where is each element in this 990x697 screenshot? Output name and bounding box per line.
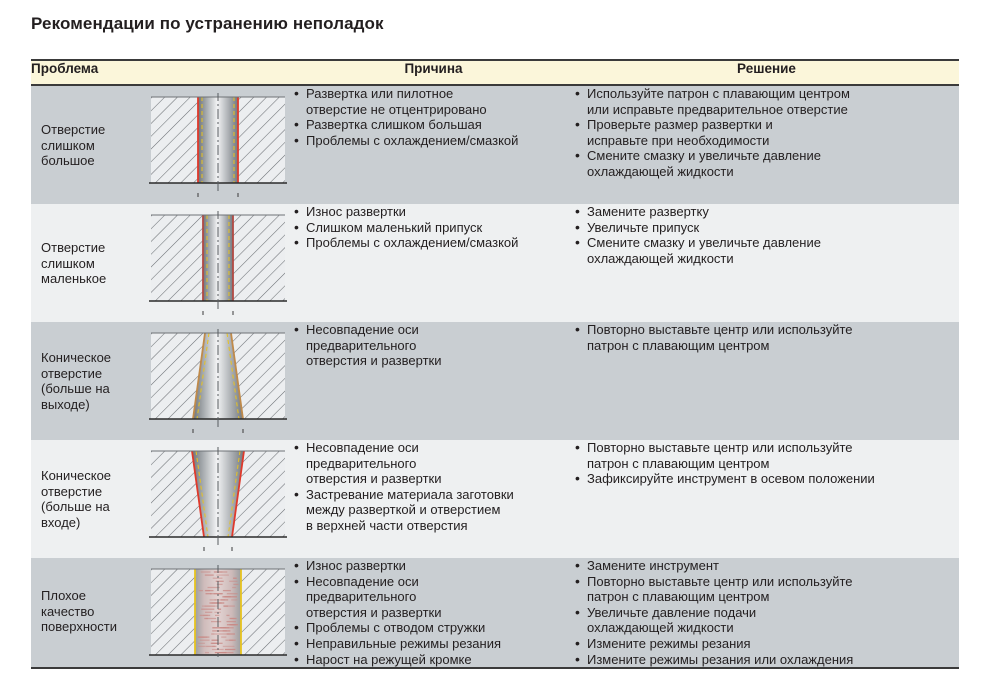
cell-cause: Развертка или пилотное отверстие не отце…	[293, 85, 574, 204]
solution-item: Измените режимы резания или охлаждения	[574, 652, 959, 668]
problem-figure: dnom	[143, 93, 293, 197]
cause-item: Нарост на режущей кромке	[293, 652, 574, 668]
cause-item: Износ развертки	[293, 204, 574, 220]
troubleshooting-table-wrapper: Проблема Причина Решение Отверстие слишк…	[31, 59, 959, 669]
solution-item: Используйте патрон с плавающим центром и…	[574, 86, 959, 117]
cause-list: Несовпадение оси предварительного отверс…	[293, 440, 574, 534]
cause-item: Слишком маленький припуск	[293, 220, 574, 236]
cell-solution: Замените инструментПовторно выставьте це…	[574, 558, 959, 667]
solution-item: Увеличьте давление подачи охлаждающей жи…	[574, 605, 959, 636]
table-header-row: Проблема Причина Решение	[31, 61, 959, 85]
cause-item: Застревание материала заготовки между ра…	[293, 487, 574, 534]
figure-bore-oversize: dnom	[143, 93, 293, 197]
table-row: Отверстие слишком большое dnom Развертка…	[31, 85, 959, 204]
solution-item: Повторно выставьте центр или используйте…	[574, 574, 959, 605]
cell-solution: Повторно выставьте центр или используйте…	[574, 322, 959, 440]
cell-problem: Коническое отверстие (больше на входе) d…	[31, 440, 293, 558]
problem-figure: dnom	[143, 447, 293, 551]
solution-item: Повторно выставьте центр или используйте…	[574, 322, 959, 353]
solution-item: Повторно выставьте центр или используйте…	[574, 440, 959, 471]
svg-text:dnom: dnom	[209, 196, 228, 198]
page-root: Рекомендации по устранению неполадок Про…	[0, 0, 990, 697]
svg-text:dnom: dnom	[209, 550, 228, 552]
troubleshooting-table: Проблема Причина Решение Отверстие слишк…	[31, 61, 959, 667]
problem-label: Коническое отверстие (больше на выходе)	[41, 350, 141, 412]
cause-item: Проблемы с охлаждением/смазкой	[293, 133, 574, 149]
cause-item: Несовпадение оси предварительного отверс…	[293, 322, 574, 369]
cause-list: Износ разверткиНесовпадение оси предвари…	[293, 558, 574, 667]
problem-figure	[143, 565, 293, 657]
problem-label: Отверстие слишком маленькое	[41, 240, 141, 287]
problem-label: Отверстие слишком большое	[41, 122, 141, 169]
solution-item: Смените смазку и увеличьте давление охла…	[574, 235, 959, 266]
cause-item: Несовпадение оси предварительного отверс…	[293, 440, 574, 487]
cause-item: Несовпадение оси предварительного отверс…	[293, 574, 574, 621]
cell-solution: Замените разверткуУвеличьте припускСмени…	[574, 204, 959, 322]
cause-list: Износ разверткиСлишком маленький припуск…	[293, 204, 574, 251]
cause-item: Проблемы с отводом стружки	[293, 620, 574, 636]
problem-label: Плохое качество поверхности	[41, 588, 141, 635]
column-header-problem: Проблема	[31, 61, 293, 85]
table-body: Отверстие слишком большое dnom Развертка…	[31, 85, 959, 667]
cell-cause: Несовпадение оси предварительного отверс…	[293, 440, 574, 558]
column-header-cause: Причина	[293, 61, 574, 85]
problem-label: Коническое отверстие (больше на входе)	[41, 468, 141, 530]
cell-cause: Износ разверткиСлишком маленький припуск…	[293, 204, 574, 322]
solution-item: Зафиксируйте инструмент в осевом положен…	[574, 471, 959, 487]
cell-problem: Коническое отверстие (больше на выходе) …	[31, 322, 293, 440]
table-row: Коническое отверстие (больше на входе) d…	[31, 440, 959, 558]
cell-cause: Износ разверткиНесовпадение оси предвари…	[293, 558, 574, 667]
figure-bore-taper-entry: dnom	[143, 447, 293, 551]
solution-list: Замените инструментПовторно выставьте це…	[574, 558, 959, 667]
figure-bore-undersize: dnom	[143, 211, 293, 315]
column-header-solution: Решение	[574, 61, 959, 85]
solution-item: Замените инструмент	[574, 558, 959, 574]
solution-item: Проверьте размер развертки и исправьте п…	[574, 117, 959, 148]
solution-item: Измените режимы резания	[574, 636, 959, 652]
cause-list: Несовпадение оси предварительного отверс…	[293, 322, 574, 369]
solution-list: Повторно выставьте центр или используйте…	[574, 322, 959, 353]
table-row: Плохое качество поверхности Износ развер…	[31, 558, 959, 667]
solution-item: Смените смазку и увеличьте давление охла…	[574, 148, 959, 179]
table-header: Проблема Причина Решение	[31, 61, 959, 85]
svg-text:dnom: dnom	[209, 314, 228, 316]
cell-problem: Плохое качество поверхности	[31, 558, 293, 667]
problem-figure: dnom	[143, 211, 293, 315]
problem-figure: dnom	[143, 329, 293, 433]
solution-item: Замените развертку	[574, 204, 959, 220]
cause-item: Износ развертки	[293, 558, 574, 574]
cause-item: Развертка слишком большая	[293, 117, 574, 133]
figure-bore-rough-surface	[143, 565, 293, 657]
table-row: Отверстие слишком маленькое dnom Износ р…	[31, 204, 959, 322]
solution-list: Замените разверткуУвеличьте припускСмени…	[574, 204, 959, 266]
cause-item: Проблемы с охлаждением/смазкой	[293, 235, 574, 251]
table-row: Коническое отверстие (больше на выходе) …	[31, 322, 959, 440]
figure-bore-taper-exit: dnom	[143, 329, 293, 433]
cell-cause: Несовпадение оси предварительного отверс…	[293, 322, 574, 440]
solution-item: Увеличьте припуск	[574, 220, 959, 236]
cell-solution: Повторно выставьте центр или используйте…	[574, 440, 959, 558]
svg-text:dnom: dnom	[209, 432, 228, 434]
cell-problem: Отверстие слишком маленькое dnom	[31, 204, 293, 322]
cause-item: Развертка или пилотное отверстие не отце…	[293, 86, 574, 117]
page-title: Рекомендации по устранению неполадок	[31, 14, 384, 34]
solution-list: Повторно выставьте центр или используйте…	[574, 440, 959, 487]
solution-list: Используйте патрон с плавающим центром и…	[574, 86, 959, 180]
cell-problem: Отверстие слишком большое dnom	[31, 85, 293, 204]
cause-list: Развертка или пилотное отверстие не отце…	[293, 86, 574, 148]
cell-solution: Используйте патрон с плавающим центром и…	[574, 85, 959, 204]
cause-item: Неправильные режимы резания	[293, 636, 574, 652]
